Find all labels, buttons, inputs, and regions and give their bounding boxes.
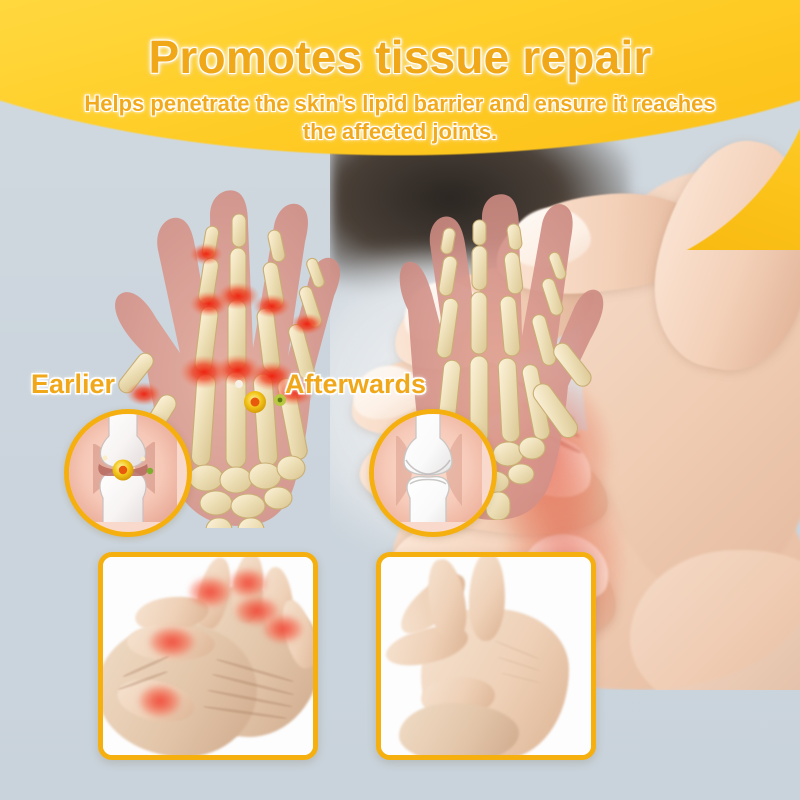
label-earlier: Earlier [31, 369, 115, 400]
inflamed-joint-marker [263, 615, 303, 643]
page-title: Promotes tissue repair [0, 0, 800, 84]
inflamed-joint-marker [149, 627, 195, 657]
photo-canvas [381, 557, 591, 755]
inflamed-joint-closeup[interactable] [64, 409, 192, 537]
page-subtitle: Helps penetrate the skin's lipid barrier… [80, 90, 720, 146]
healthy-hand-photo[interactable] [376, 552, 596, 760]
header-text-group: Promotes tissue repair Helps penetrate t… [0, 0, 800, 146]
photo-canvas [103, 557, 313, 755]
inflamed-joint-marker [229, 569, 267, 597]
inflamed-joint-marker [139, 685, 181, 717]
lower-bone [407, 477, 449, 522]
healthy-joint-closeup[interactable] [369, 409, 497, 537]
inflamed-joint-svg [69, 414, 177, 522]
arthritic-hands-photo[interactable] [98, 552, 318, 760]
crystal-deposit-marker [113, 460, 134, 481]
label-afterwards: Afterwards [285, 369, 426, 400]
inflamed-joint-marker [189, 577, 231, 607]
healthy-joint-svg [374, 414, 482, 522]
product-feature-poster: Promotes tissue repair Helps penetrate t… [0, 0, 800, 800]
